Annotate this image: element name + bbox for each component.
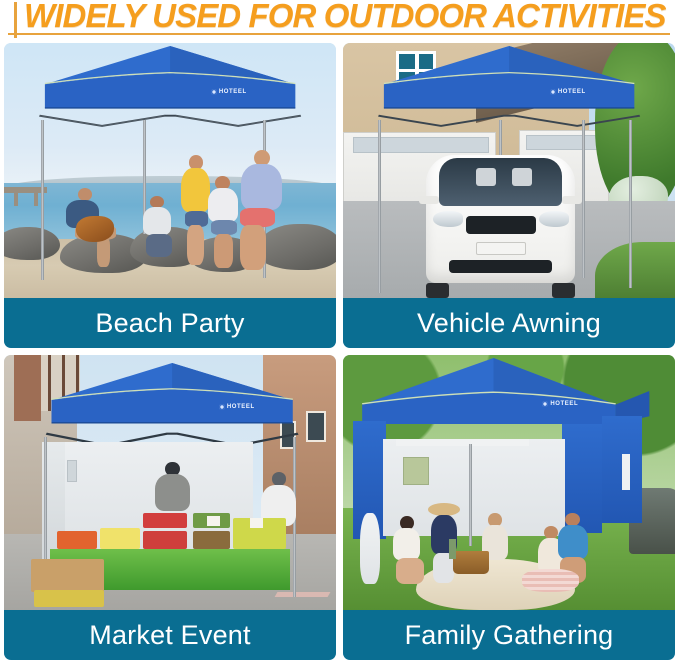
photo-beach-party: HOTEEL [4, 43, 336, 298]
brand-logo-text: HOTEEL [550, 401, 578, 407]
panel-vehicle-awning[interactable]: HOTEEL [343, 43, 675, 348]
person-vendor [153, 462, 193, 513]
person-legs [240, 225, 266, 270]
produce-crate [143, 513, 186, 528]
canopy-center-pole [469, 444, 472, 546]
person-torso [208, 188, 238, 222]
brand-logo: HOTEEL [219, 404, 255, 410]
caption-family-gathering: Family Gathering [343, 610, 675, 660]
canopy-ridge-bar [396, 439, 529, 445]
picnic-basket [453, 551, 490, 574]
caption-vehicle-awning: Vehicle Awning [343, 298, 675, 348]
produce-crate [100, 528, 140, 548]
header-banner: WIDELY USED FOR OUTDOOR ACTIVITIES [0, 0, 679, 41]
canopy-tent: HOTEEL [41, 363, 303, 437]
caption-beach-party: Beach Party [4, 298, 336, 348]
canopy-tent: HOTEEL [373, 46, 645, 123]
photo-market-event: HOTEEL [4, 355, 336, 610]
building-window [306, 411, 326, 442]
canopy-truss-frame [373, 114, 645, 134]
person-legs [146, 234, 172, 257]
wall-zipper-strip [622, 454, 630, 490]
person-woman-seated [389, 516, 426, 587]
picnic-cushion [522, 569, 578, 592]
car-mirror-left [419, 196, 439, 204]
car-windshield [439, 158, 562, 206]
garage-window-strip [526, 135, 602, 150]
canopy-leg [41, 120, 44, 281]
canopy-roof-shape [41, 363, 303, 437]
brick-wall [14, 355, 41, 421]
canopy-leg [378, 120, 381, 293]
road-marking [275, 592, 331, 597]
person-head [272, 472, 286, 485]
sun-hat [428, 503, 460, 516]
pier-post [14, 191, 18, 206]
garage-window-strip [353, 137, 489, 152]
person-seated-woman [137, 196, 180, 267]
brand-mark-icon [542, 401, 548, 407]
panel-market-event[interactable]: HOTEEL [4, 355, 336, 660]
person-legs [214, 234, 233, 268]
produce-crate [143, 531, 186, 549]
person-guitarist [60, 188, 126, 270]
brand-logo: HOTEEL [550, 89, 586, 95]
canopy-roof-shape [34, 46, 306, 123]
pier-post [34, 191, 38, 206]
person-legs [396, 558, 424, 584]
brand-logo-text: HOTEEL [558, 89, 586, 95]
car-headlight-left [433, 211, 463, 226]
guitar [76, 216, 113, 242]
car-headlight-right [539, 211, 569, 226]
produce-box [34, 590, 104, 608]
brand-mark-icon [211, 89, 217, 95]
person-shorts [211, 220, 237, 235]
price-sign [207, 516, 220, 526]
brand-logo-text: HOTEEL [219, 89, 247, 95]
canopy-tent: HOTEEL [34, 46, 306, 123]
canopy-roof-shape [373, 46, 645, 123]
produce-box [31, 559, 104, 592]
brand-logo: HOTEEL [211, 89, 247, 95]
photo-vehicle-awning: HOTEEL [343, 43, 675, 298]
produce-crate [193, 531, 230, 549]
car-grille [466, 216, 536, 234]
person-torso [241, 164, 282, 211]
car-tire [552, 283, 575, 298]
brand-logo-text: HOTEEL [227, 404, 255, 410]
brand-mark-icon [550, 89, 556, 95]
car-lower-intake [449, 260, 552, 273]
photo-family-gathering: HOTEEL [343, 355, 675, 610]
panel-family-gathering[interactable]: HOTEEL [343, 355, 675, 660]
brand-logo: HOTEEL [542, 401, 578, 407]
canopy-leg [629, 120, 632, 288]
person-torso [155, 474, 190, 511]
page-title: WIDELY USED FOR OUTDOOR ACTIVITIES [24, 0, 674, 35]
brand-mark-icon [219, 404, 225, 410]
panel-grid: HOTEEL [4, 43, 675, 660]
panel-beach-party[interactable]: HOTEEL [4, 43, 336, 348]
car-headrest [476, 168, 496, 186]
person-torso [558, 525, 588, 559]
wine-bottle [449, 539, 456, 559]
produce-crate [57, 531, 97, 549]
canopy-leg [582, 120, 585, 278]
wall-rolled-curtain [360, 513, 380, 584]
person-man-blue-shirt [236, 150, 292, 272]
car-mirror-right [562, 196, 582, 204]
person-torso [393, 528, 420, 559]
car-headrest [512, 168, 532, 186]
person-legs [187, 225, 205, 265]
caption-market-event: Market Event [4, 610, 336, 660]
car-license-plate [476, 242, 526, 255]
wall-vent-window [67, 460, 77, 483]
person-torso [143, 207, 171, 236]
car-tire [426, 283, 449, 298]
product-feature-image: WIDELY USED FOR OUTDOOR ACTIVITIES [0, 0, 679, 664]
wall-mesh-window [403, 457, 430, 485]
price-sign [250, 518, 263, 528]
